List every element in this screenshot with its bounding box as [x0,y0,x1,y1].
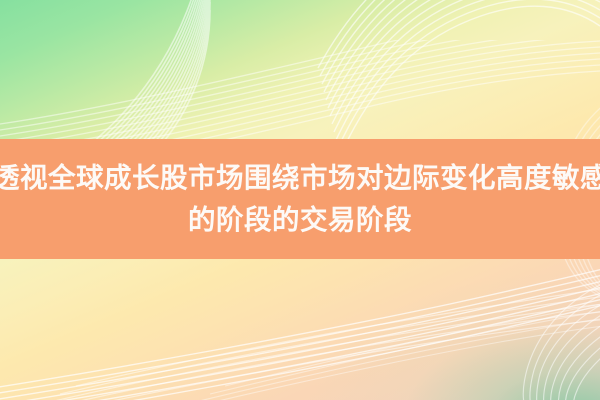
title-line-2: 的阶段的交易阶段 [188,199,412,241]
title-line-1: 透视全球成长股市场围绕市场对边际变化高度敏感 [0,157,600,199]
banner-graphic: 透视全球成长股市场围绕市场对边际变化高度敏感 的阶段的交易阶段 [0,0,600,400]
title-band: 透视全球成长股市场围绕市场对边际变化高度敏感 的阶段的交易阶段 [0,139,600,259]
